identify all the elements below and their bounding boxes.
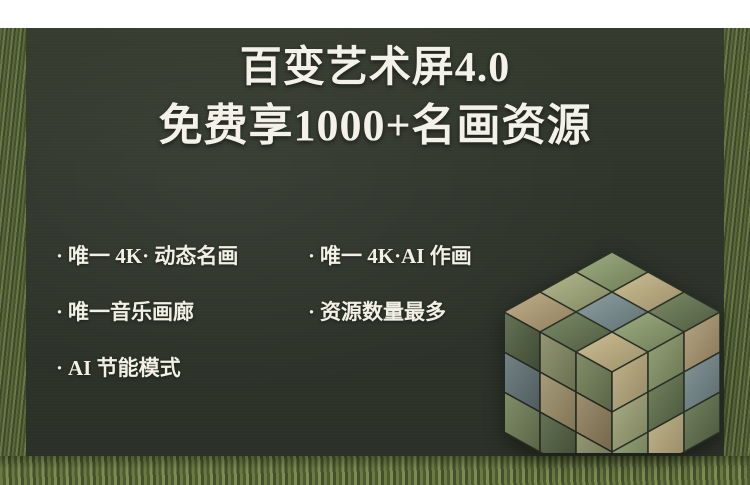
feature-column-right: · 唯一 4K·AI 作画 · 资源数量最多 bbox=[308, 240, 472, 352]
page-title: 百变艺术屏4.0 免费享1000+名画资源 bbox=[0, 44, 750, 151]
feature-label: AI 节能模式 bbox=[68, 352, 181, 382]
feature-item: · 唯一 4K·AI 作画 bbox=[308, 240, 472, 270]
grass-border-bottom bbox=[0, 456, 750, 485]
feature-label: 资源数量最多 bbox=[320, 296, 446, 326]
bullet-icon: · bbox=[308, 300, 315, 325]
feature-item: · 唯一 4K· 动态名画 bbox=[56, 240, 238, 270]
feature-label: 唯一 4K· 动态名画 bbox=[68, 240, 238, 270]
top-white-bar bbox=[0, 0, 750, 28]
headline-line-1: 百变艺术屏4.0 bbox=[0, 44, 750, 94]
bullet-icon: · bbox=[56, 356, 63, 381]
poster-canvas: 百变艺术屏4.0 免费享1000+名画资源 · 唯一 4K· 动态名画 · 唯一… bbox=[0, 0, 750, 485]
bullet-icon: · bbox=[56, 244, 63, 269]
feature-item: · AI 节能模式 bbox=[56, 352, 238, 382]
feature-label: 唯一音乐画廊 bbox=[68, 296, 194, 326]
headline-line-2: 免费享1000+名画资源 bbox=[0, 100, 750, 152]
feature-item: · 唯一音乐画廊 bbox=[56, 296, 238, 326]
bullet-icon: · bbox=[56, 300, 63, 325]
bullet-icon: · bbox=[308, 244, 315, 269]
feature-label: 唯一 4K·AI 作画 bbox=[320, 240, 472, 270]
feature-column-left: · 唯一 4K· 动态名画 · 唯一音乐画廊 · AI 节能模式 bbox=[56, 240, 238, 408]
rubiks-cube-icon bbox=[505, 238, 720, 453]
feature-item: · 资源数量最多 bbox=[308, 296, 472, 326]
